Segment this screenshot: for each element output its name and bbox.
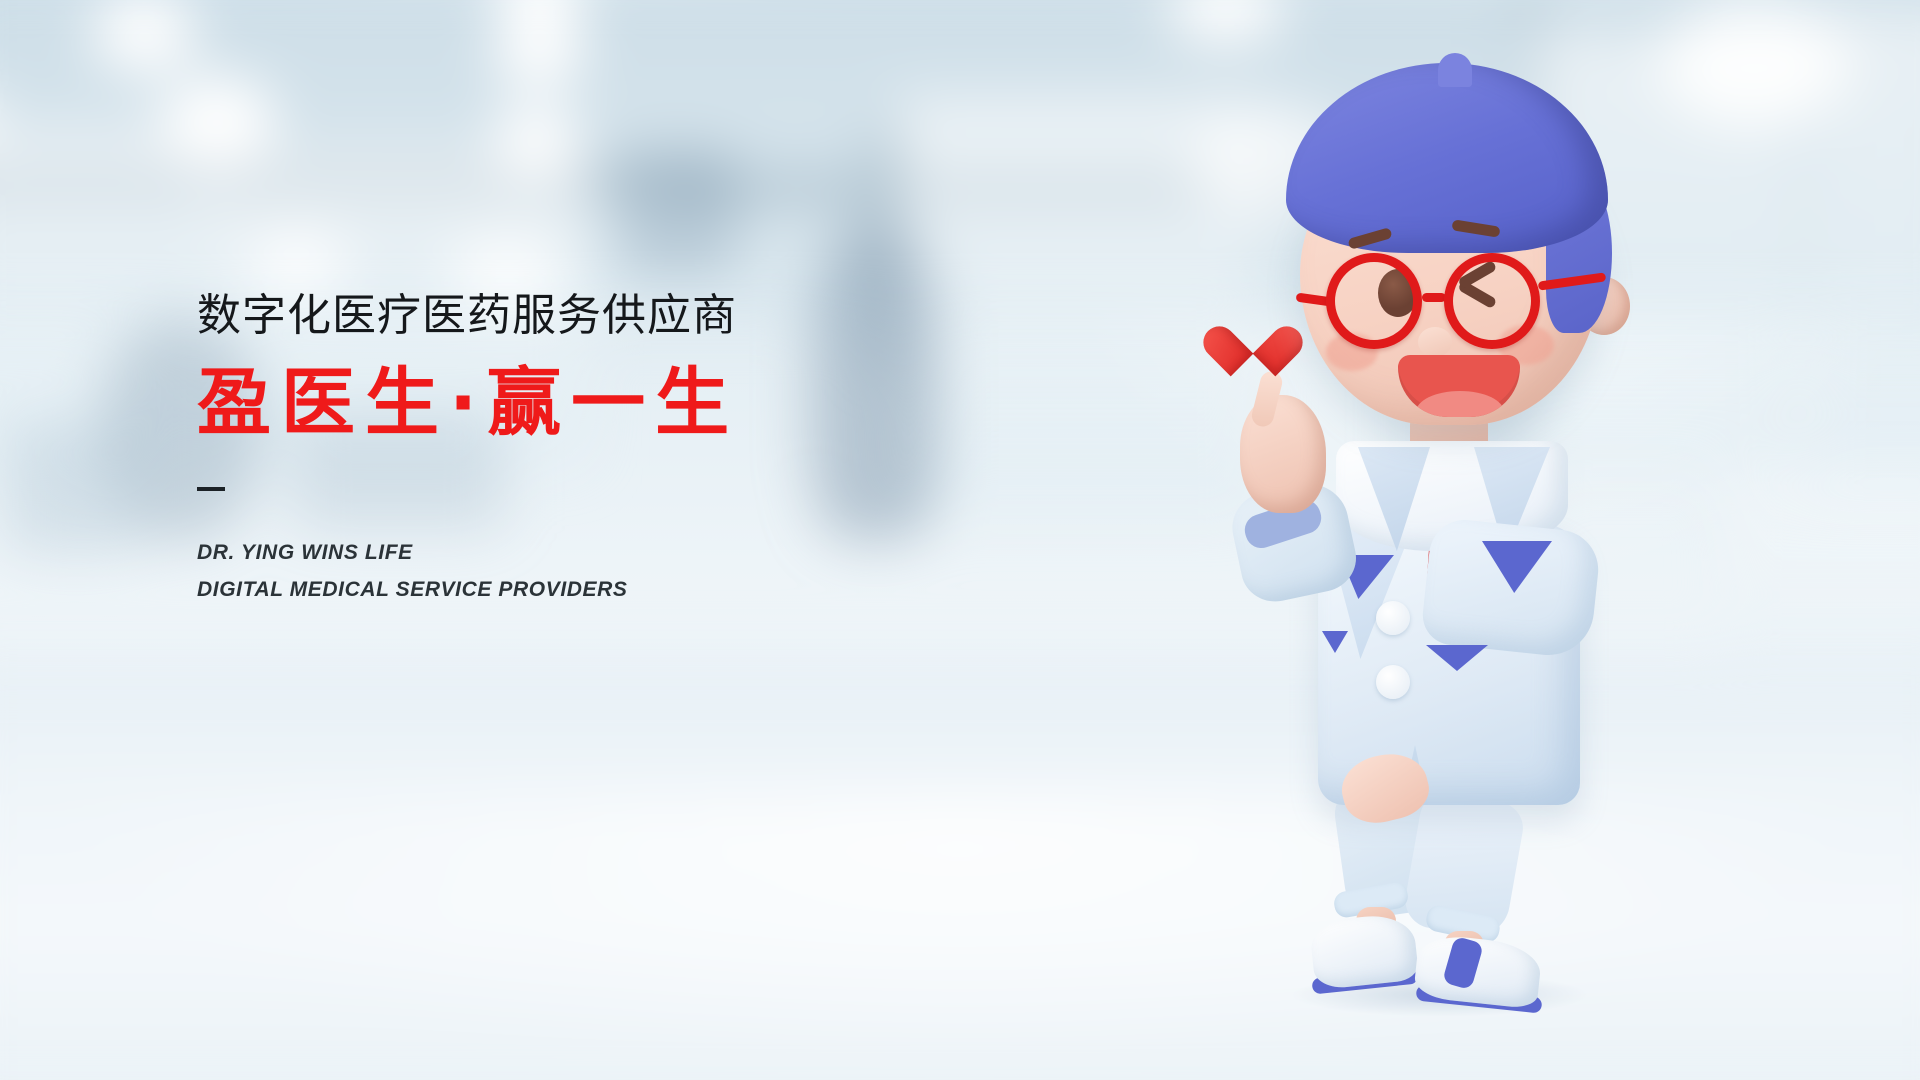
english-tagline-secondary: DIGITAL MEDICAL SERVICE PROVIDERS	[197, 572, 977, 609]
mascot-coat-button	[1376, 601, 1410, 635]
headline-divider-rule	[197, 487, 225, 491]
mascot-mouth	[1398, 355, 1520, 417]
banner-stage: 数字化医疗医药服务供应商 盈医生·赢一生 DR. YING WINS LIFE …	[0, 0, 1920, 1080]
glasses-bridge	[1422, 293, 1446, 302]
hero-english-copy: DR. YING WINS LIFE DIGITAL MEDICAL SERVI…	[197, 535, 977, 609]
mascot-tongue	[1416, 391, 1504, 417]
doctor-mascot	[1230, 55, 1650, 895]
glasses-left-lens	[1326, 253, 1422, 349]
mascot-surgical-cap	[1286, 63, 1608, 253]
mascot-cap-tab	[1438, 53, 1472, 87]
glasses-right-lens	[1444, 253, 1540, 349]
english-tagline-primary: DR. YING WINS LIFE	[197, 535, 977, 572]
hero-subheading: 数字化医疗医药服务供应商	[197, 292, 977, 340]
heart-icon	[1226, 317, 1282, 371]
glasses-icon	[1326, 247, 1612, 355]
mascot-coat-button	[1376, 665, 1410, 699]
glasses-right-temple	[1538, 272, 1607, 290]
hero-copy-block: 数字化医疗医药服务供应商 盈医生·赢一生 DR. YING WINS LIFE …	[197, 292, 977, 609]
hero-headline: 盈医生·赢一生	[197, 362, 977, 445]
mascot-right-sleeve	[1420, 516, 1602, 659]
